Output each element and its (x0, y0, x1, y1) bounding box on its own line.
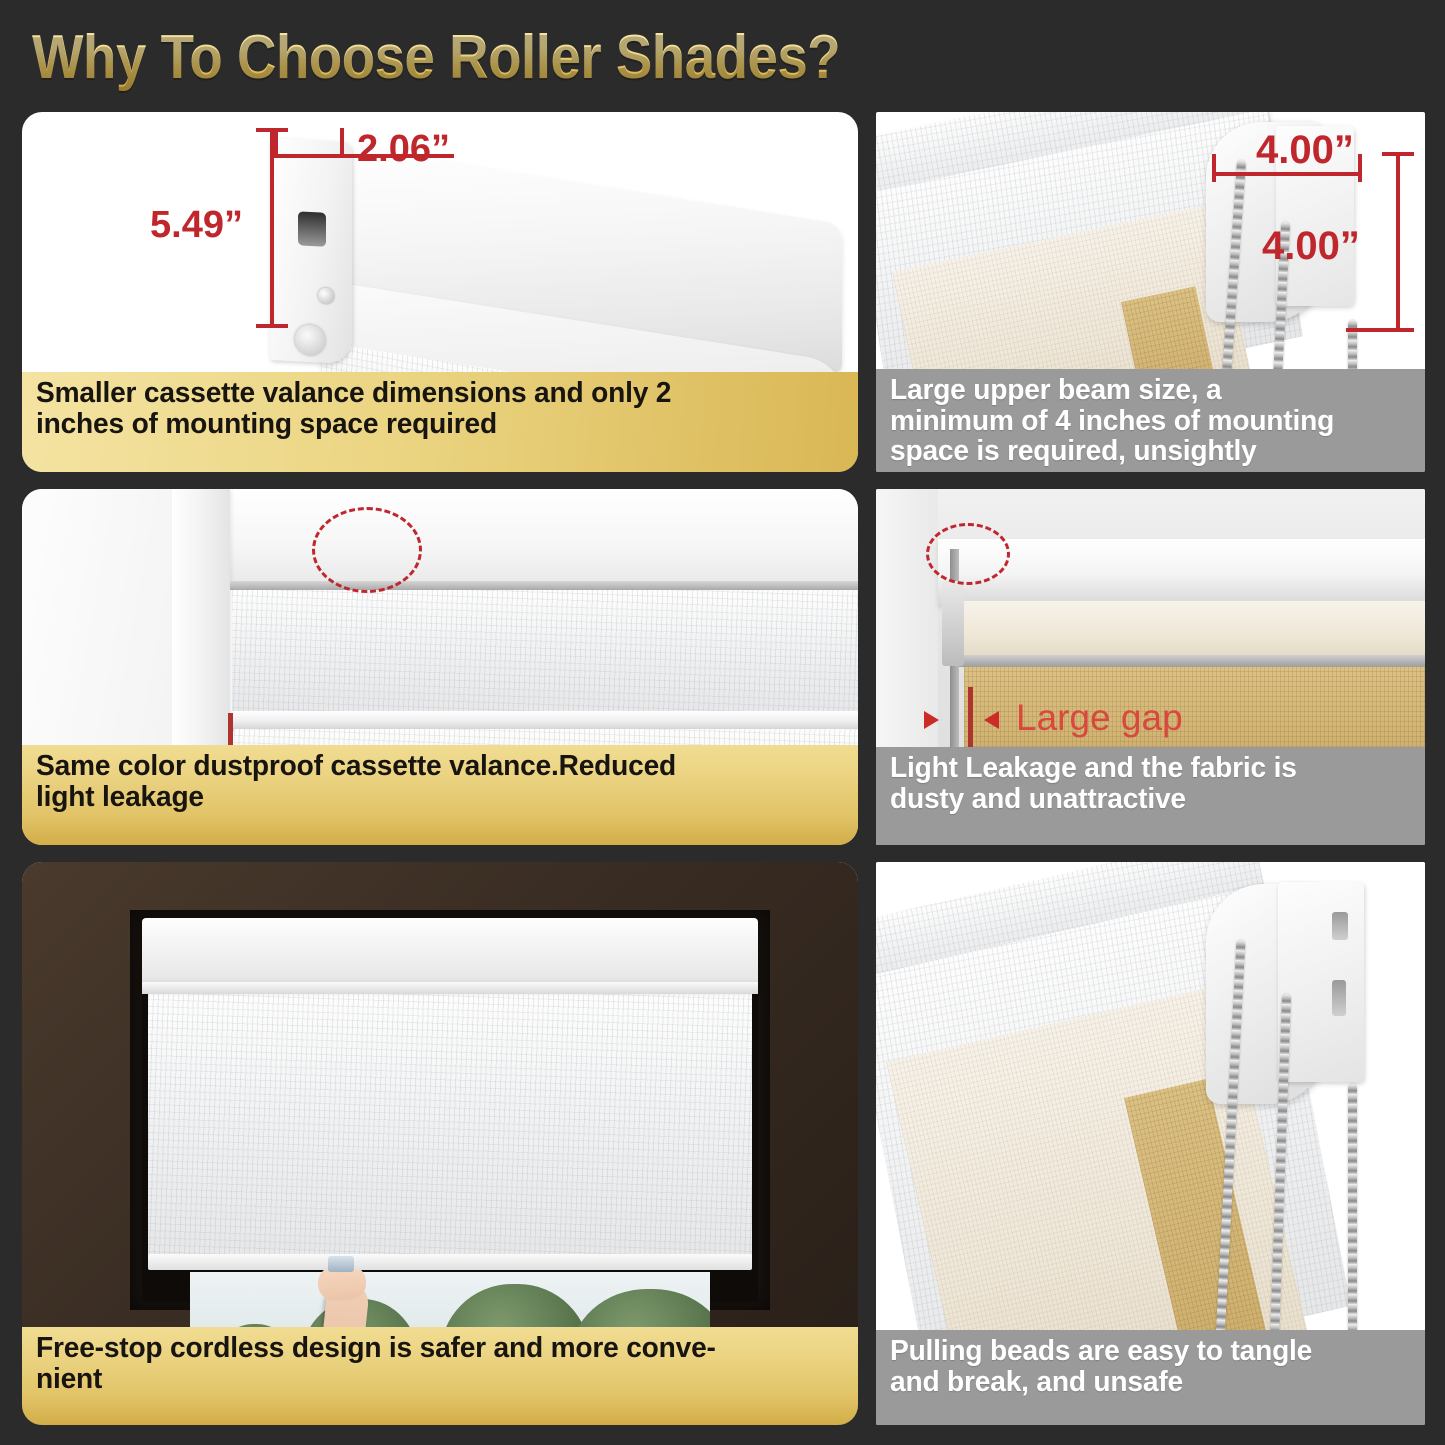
caption-line: inches of mounting space required (36, 409, 820, 440)
height-dimension-label: 5.49” (150, 204, 243, 247)
panel-large-upper-beam: 4.00” 4.00” Large upper beam size, a min… (876, 112, 1425, 472)
gap-arrow-right-icon (984, 711, 999, 729)
shade-fabric-upper (232, 590, 858, 715)
shade-ridge (230, 711, 858, 731)
highlight-circle-icon (312, 507, 422, 593)
bracket-slot-lower (1332, 980, 1346, 1016)
comparison-grid: 2.06” 5.49” Smaller cassette valance dim… (0, 0, 1445, 1445)
bracket-screw-upper (318, 287, 334, 304)
caption-line: nient (36, 1364, 820, 1395)
gap-indicator-line (968, 687, 973, 747)
caption-line: Same color dustproof cassette valance.Re… (36, 751, 820, 782)
shade-clip-mechanism (942, 581, 964, 666)
cassette-valance (142, 918, 758, 988)
beam-bottom-edge (954, 655, 1425, 667)
gap-arrow-left-icon (924, 711, 939, 729)
panel-5-caption: Free-stop cordless design is safer and m… (22, 1327, 858, 1425)
panel-1-caption: Smaller cassette valance dimensions and … (22, 372, 858, 472)
height-dim-line (1396, 152, 1400, 332)
panel-6-caption: Pulling beads are easy to tangle and bre… (876, 1330, 1425, 1425)
caption-line: light leakage (36, 782, 820, 813)
highlight-circle-icon (926, 523, 1010, 585)
panel-4-caption: Light Leakage and the fabric is dusty an… (876, 747, 1425, 845)
bracket-screw-lower (295, 324, 325, 356)
caption-line: minimum of 4 inches of mounting (890, 406, 1395, 437)
caption-line: Light Leakage and the fabric is (890, 753, 1395, 784)
panel-3-caption: Same color dustproof cassette valance.Re… (22, 745, 858, 845)
width-dim-tick-right (340, 128, 344, 158)
mounting-bracket (270, 138, 352, 364)
gap-callout-label: Large gap (1016, 697, 1183, 739)
bracket-slot (298, 211, 326, 246)
width-dimension-label: 2.06” (357, 128, 450, 171)
caption-line: Smaller cassette valance dimensions and … (36, 378, 820, 409)
panel-light-leakage: Large gap Light Leakage and the fabric i… (876, 489, 1425, 845)
valance-edge (142, 982, 758, 994)
upper-beam (938, 539, 1425, 605)
height-dim-tick-bottom (1346, 328, 1414, 332)
caption-line: space is required, unsightly (890, 436, 1395, 467)
height-dimension-label: 4.00” (1262, 224, 1360, 269)
caption-line: and break, and unsafe (890, 1367, 1395, 1398)
bead-chain-rear (1348, 1084, 1357, 1340)
width-dim-tick-left (1212, 154, 1216, 182)
width-dim-tick-left (274, 128, 278, 158)
mounting-bracket (1278, 882, 1364, 1082)
bracket-slot-upper (1332, 912, 1348, 940)
panel-smaller-cassette-valance: 2.06” 5.49” Smaller cassette valance dim… (22, 112, 858, 472)
panel-cordless-design: Free-stop cordless design is safer and m… (22, 862, 858, 1425)
beam-fabric-band (954, 601, 1425, 657)
height-dim-line (270, 128, 274, 328)
shade-hem-bar (148, 1254, 752, 1270)
caption-line: dusty and unattractive (890, 784, 1395, 815)
height-dim-tick-top (256, 128, 288, 132)
panel-2-caption: Large upper beam size, a minimum of 4 in… (876, 369, 1425, 472)
caption-line: Pulling beads are easy to tangle (890, 1336, 1395, 1367)
cassette-rail (230, 581, 858, 590)
height-dim-tick-top (1382, 152, 1414, 156)
height-dim-tick-bottom (256, 324, 288, 328)
width-dim-tick-right (1358, 154, 1362, 182)
shade-fabric (148, 994, 752, 1259)
caption-line: Large upper beam size, a (890, 375, 1395, 406)
pull-tab[interactable] (328, 1256, 354, 1272)
panel-pulling-beads: Pulling beads are easy to tangle and bre… (876, 862, 1425, 1425)
caption-line: Free-stop cordless design is safer and m… (36, 1333, 820, 1364)
panel-dustproof-cassette-valance: smaller gap Same color dustproof cassett… (22, 489, 858, 845)
width-dimension-label: 4.00” (1256, 128, 1354, 173)
window-frame-top (172, 489, 858, 585)
